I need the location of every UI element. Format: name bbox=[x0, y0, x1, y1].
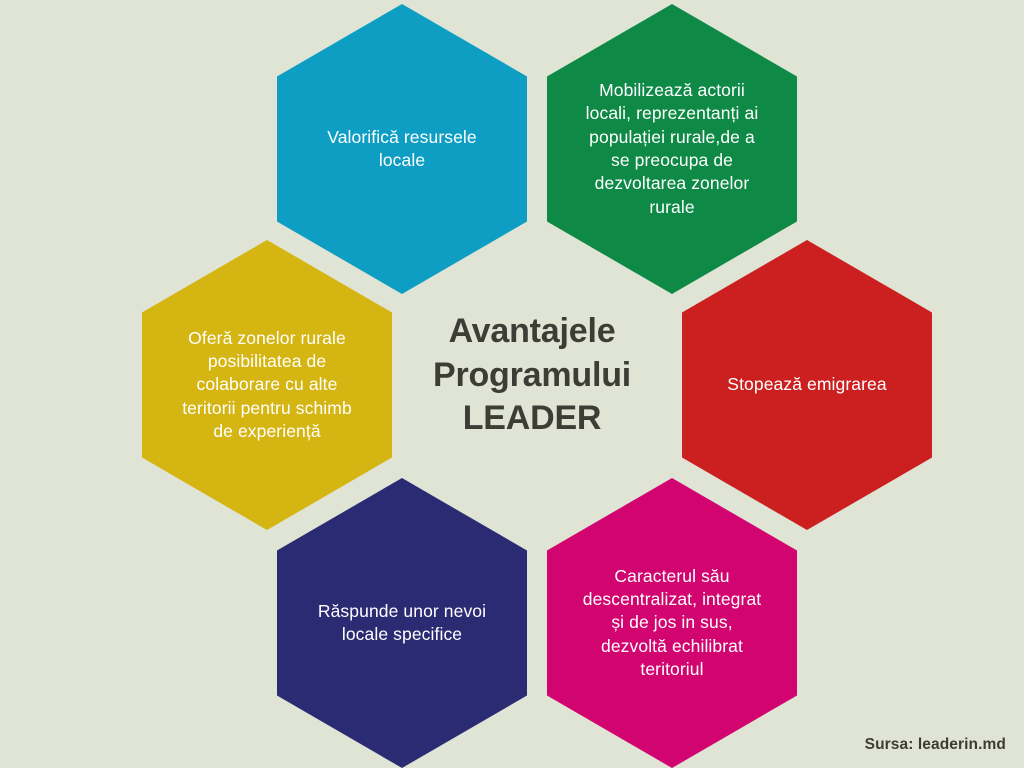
hexagon-label: Răspunde unor nevoi locale specifice bbox=[318, 600, 486, 647]
hexagon-ofera-zonelor-rurale-colaborare: Oferă zonelor rurale posibilitatea de co… bbox=[142, 240, 392, 530]
hexagon-valorifica-resursele-locale: Valorifică resursele locale bbox=[277, 4, 527, 294]
hexagon-stopeaza-emigrarea: Stopează emigrarea bbox=[682, 240, 932, 530]
hexagon-mobilizeaza-actorii-locali: Mobilizează actorii locali, reprezentanț… bbox=[547, 4, 797, 294]
hexagon-caracterul-descentralizat: Caracterul său descentralizat, integrat … bbox=[547, 478, 797, 768]
hexagon-label: Valorifică resursele locale bbox=[327, 126, 477, 173]
center-title: Avantajele Programului LEADER bbox=[392, 310, 672, 441]
hexagon-raspunde-unor-nevoi-locale: Răspunde unor nevoi locale specifice bbox=[277, 478, 527, 768]
hexagon-label: Stopează emigrarea bbox=[727, 373, 886, 396]
hexagon-label: Oferă zonelor rurale posibilitatea de co… bbox=[182, 327, 352, 443]
source-attribution: Sursa: leaderin.md bbox=[865, 736, 1006, 754]
infographic-canvas: Valorifică resursele locale Mobilizează … bbox=[0, 0, 1024, 768]
hexagon-label: Caracterul său descentralizat, integrat … bbox=[583, 565, 761, 681]
hexagon-label: Mobilizează actorii locali, reprezentanț… bbox=[586, 79, 759, 219]
